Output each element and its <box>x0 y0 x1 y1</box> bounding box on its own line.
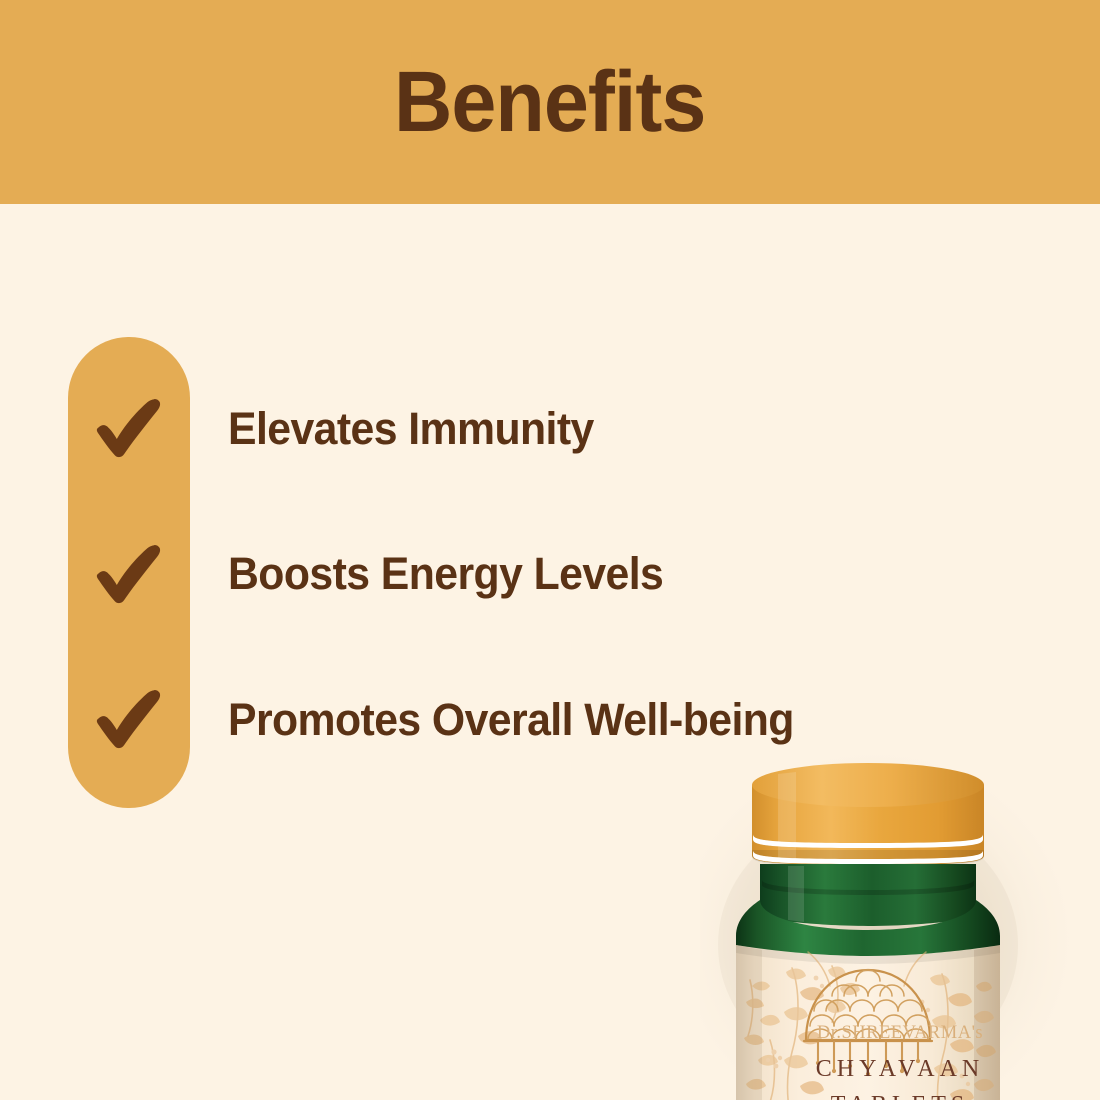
bottle-neck <box>760 864 976 926</box>
benefit-label: Boosts Energy Levels <box>228 551 663 596</box>
benefits-page: Benefits Elevates Immunity <box>0 0 1100 1100</box>
bottle-cap <box>752 763 984 866</box>
benefit-item: Boosts Energy Levels <box>68 531 1068 617</box>
checkmark-icon <box>68 531 190 617</box>
checkmark-icon <box>68 385 190 471</box>
benefits-list: Elevates Immunity Boosts Energy Levels <box>68 337 1068 808</box>
benefit-label: Elevates Immunity <box>228 406 594 451</box>
page-title: Benefits <box>394 59 705 145</box>
checkmark-icon <box>68 676 190 762</box>
bottle-illustration <box>700 740 1100 1100</box>
benefit-label: Promotes Overall Well-being <box>228 697 794 742</box>
benefit-item: Elevates Immunity <box>68 385 1068 471</box>
bottle-label <box>736 945 1000 1100</box>
header-banner: Benefits <box>0 0 1100 204</box>
product-bottle-image: Dr.SHREEVARMA's CHYAVAAN TABLETS <box>700 740 1100 1100</box>
